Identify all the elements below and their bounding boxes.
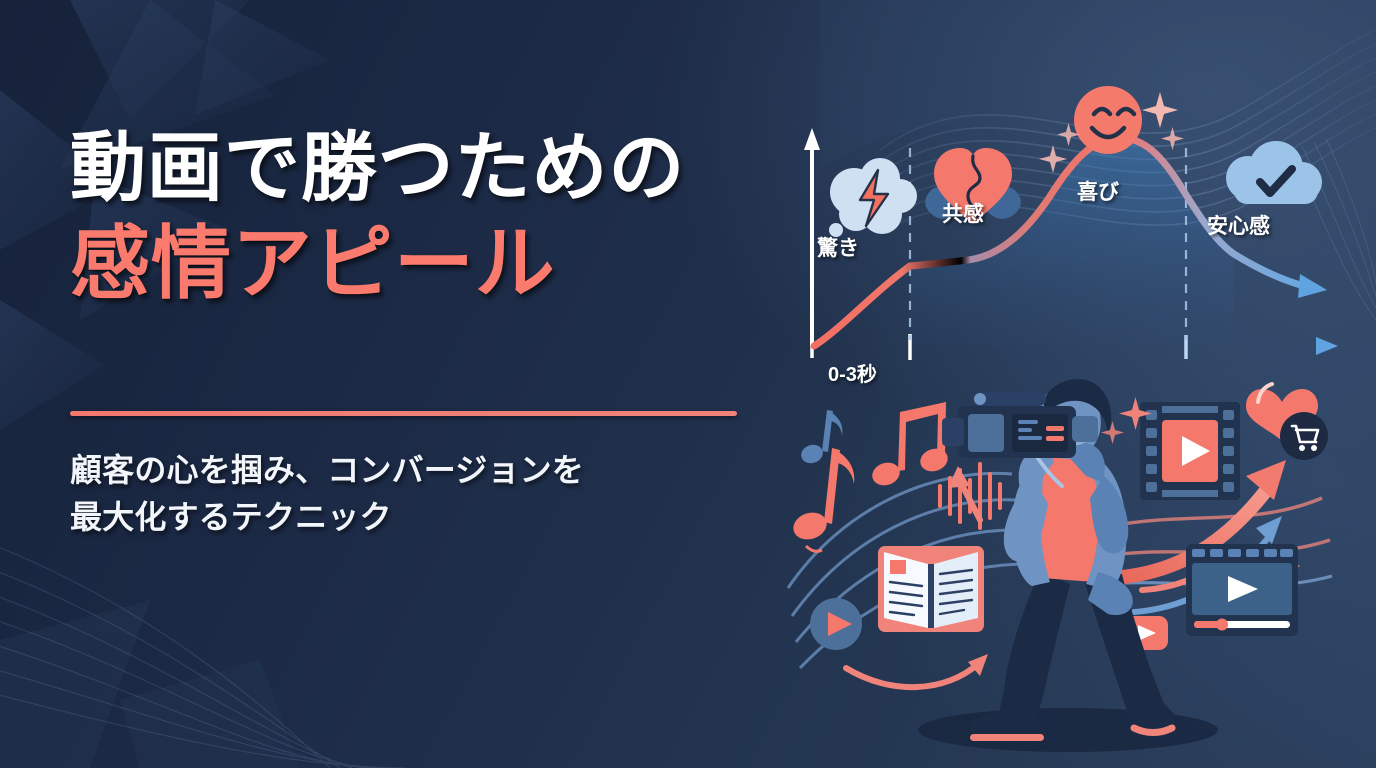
film-strip-play-icon (1140, 402, 1240, 500)
title-divider (70, 411, 737, 416)
annotation-label-joy: 喜び (1077, 176, 1119, 206)
videographer-illustration (782, 378, 1376, 768)
annotation-label-relief: 安心感 (1207, 210, 1270, 240)
emotion-curve-chart: 驚き 共感 喜び 安心感 0-3秒 (782, 78, 1376, 408)
annotation-label-empathy: 共感 (942, 198, 984, 228)
open-book-icon (878, 546, 984, 632)
heart-cart-icon (1246, 384, 1328, 460)
illustration-svg (782, 378, 1376, 768)
subtitle-block: 顧客の心を掴み、コンバージョンを 最大化するテクニック (70, 447, 760, 540)
video-player-icon (1186, 544, 1298, 636)
polygon-facets-bottom (0, 600, 300, 768)
headline-line-2: 感情アピール (70, 221, 770, 307)
wave-lines-bottom (0, 540, 406, 768)
subtitle-line-2: 最大化するテクニック (70, 494, 760, 541)
music-note-icon (790, 448, 854, 551)
poster-canvas: 動画で勝つための 感情アピール 顧客の心を掴み、コンバージョンを 最大化するテク… (0, 0, 1376, 768)
play-circle-icon (810, 598, 862, 650)
music-note-beamed-icon (869, 402, 950, 489)
smiley-face-icon (1074, 86, 1142, 154)
headline-line-1: 動画で勝つための (70, 128, 770, 209)
subtitle-line-1: 顧客の心を掴み、コンバージョンを (70, 447, 760, 494)
annotation-label-surprise: 驚き (817, 232, 859, 262)
cloud-check-icon (1226, 141, 1322, 204)
headline-block: 動画で勝つための 感情アピール (70, 128, 770, 307)
curve-arrowhead (1298, 274, 1327, 298)
